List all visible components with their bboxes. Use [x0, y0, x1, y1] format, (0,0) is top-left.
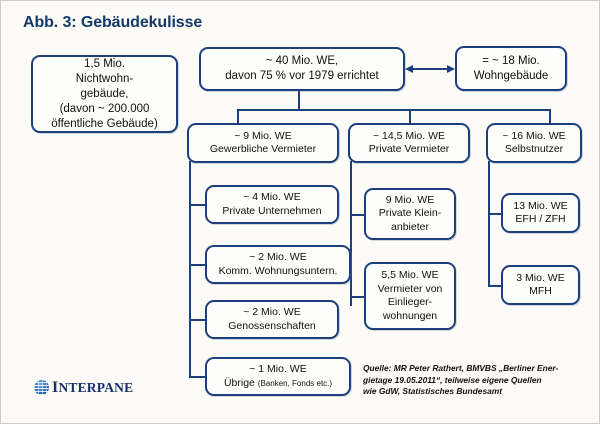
- source-note: Quelle: MR Peter Rathert, BMVBS „Berline…: [363, 363, 585, 398]
- box-cooperatives[interactable]: ~ 2 Mio. WE Genossenschaften: [205, 300, 339, 339]
- box-line: = ~ 18 Mio.: [482, 54, 540, 69]
- box-commercial-landlords[interactable]: ~ 9 Mio. WE Gewerbliche Vermieter: [187, 123, 339, 163]
- box-line: gebäude,: [81, 87, 129, 102]
- box-line-note: (Banken, Fonds etc.): [258, 379, 332, 388]
- box-private-companies[interactable]: ~ 4 Mio. WE Private Unternehmen: [205, 185, 339, 224]
- box-line: ~ 2 Mio. WE: [249, 251, 306, 265]
- source-line: gietage 19.05.2011“, teilweise eigene Qu…: [363, 375, 585, 387]
- box-line: ~ 16 Mio. WE: [502, 130, 565, 144]
- box-line: Einlieger-: [388, 296, 432, 310]
- box-line: ~ 40 Mio. WE,: [266, 54, 339, 69]
- box-granny-flat-landlords[interactable]: 5,5 Mio. WE Vermieter von Einlieger- woh…: [364, 262, 456, 330]
- logo-wordmark: INTERPANE: [52, 381, 133, 395]
- connector-stub-municipal: [189, 264, 205, 266]
- connector-drop-commercial: [237, 109, 239, 123]
- connector-stub-others: [189, 376, 205, 378]
- box-line: Wohngebäude: [474, 69, 549, 84]
- connector-spine-private: [350, 161, 352, 306]
- box-line: Nichtwohn-: [76, 72, 134, 87]
- box-line: 13 Mio. WE: [513, 200, 567, 214]
- connector-stub-efh: [488, 213, 501, 215]
- globe-icon: [34, 380, 49, 395]
- connector-spine-owner: [488, 161, 490, 286]
- box-residential-buildings[interactable]: = ~ 18 Mio. Wohngebäude: [455, 46, 567, 91]
- connector-stub-private-companies: [189, 204, 205, 206]
- box-line: 5,5 Mio. WE: [381, 269, 438, 283]
- connector-stub-cooperatives: [189, 319, 205, 321]
- box-line: MFH: [529, 285, 552, 299]
- box-line: (davon ~ 200.000: [60, 102, 150, 117]
- box-line: Private Unternehmen: [222, 205, 321, 219]
- box-owner-occupiers[interactable]: ~ 16 Mio. WE Selbstnutzer: [486, 123, 582, 163]
- connector-stub-mfh: [488, 285, 501, 287]
- box-line: 3 Mio. WE: [516, 272, 564, 286]
- box-line: EFH / ZFH: [515, 213, 565, 227]
- bidirectional-arrow-icon: [405, 62, 455, 76]
- box-efh-zfh[interactable]: 13 Mio. WE EFH / ZFH: [501, 193, 580, 233]
- connector-stub-einlieger: [350, 296, 364, 298]
- box-municipal-housing-companies[interactable]: ~ 2 Mio. WE Komm. Wohnungsuntern.: [205, 245, 351, 284]
- connector-drop-private: [409, 109, 411, 123]
- box-line: Komm. Wohnungsuntern.: [219, 265, 338, 279]
- box-dwellings-total[interactable]: ~ 40 Mio. WE, davon 75 % vor 1979 errich…: [199, 47, 405, 91]
- box-line: Übrige: [224, 377, 255, 389]
- box-line: öffentliche Gebäude): [51, 117, 158, 132]
- page-title: Abb. 3: Gebäudekulisse: [23, 14, 202, 32]
- box-line: Vermieter von: [378, 283, 443, 297]
- connector-stub-klein: [350, 214, 364, 216]
- figure-canvas: Abb. 3: Gebäudekulisse 1,5 Mio. Nichtwoh…: [0, 0, 600, 424]
- box-nonresidential-buildings[interactable]: 1,5 Mio. Nichtwohn- gebäude, (davon ~ 20…: [31, 55, 178, 133]
- box-line: Genossenschaften: [228, 320, 316, 334]
- box-others[interactable]: ~ 1 Mio. WE Übrige (Banken, Fonds etc.): [205, 357, 351, 396]
- connector-level2-bus: [237, 109, 551, 111]
- interpane-logo: INTERPANE: [34, 380, 133, 395]
- box-line: Gewerbliche Vermieter: [210, 143, 316, 157]
- box-line: ~ 1 Mio. WE: [249, 363, 306, 377]
- box-small-private-providers[interactable]: 9 Mio. WE Private Klein- anbieter: [364, 188, 456, 240]
- box-private-landlords[interactable]: ~ 14,5 Mio. WE Private Vermieter: [348, 123, 470, 163]
- source-line: wie GdW, Statistisches Bundesamt: [363, 386, 585, 398]
- box-line: wohnungen: [383, 310, 437, 324]
- box-line: davon 75 % vor 1979 errichtet: [225, 69, 378, 84]
- source-line: Quelle: MR Peter Rathert, BMVBS „Berline…: [363, 363, 585, 375]
- box-mfh[interactable]: 3 Mio. WE MFH: [501, 265, 580, 305]
- box-line: ~ 2 Mio. WE: [243, 306, 300, 320]
- box-line: 1,5 Mio.: [84, 57, 125, 72]
- box-line: ~ 4 Mio. WE: [243, 191, 300, 205]
- box-line: anbieter: [391, 221, 429, 235]
- box-line: 9 Mio. WE: [386, 194, 434, 208]
- connector-trunk-vertical: [298, 90, 300, 110]
- box-line: Selbstnutzer: [505, 143, 563, 157]
- connector-drop-owner: [549, 109, 551, 123]
- box-line: Private Klein-: [379, 207, 441, 221]
- box-line-group: Übrige (Banken, Fonds etc.): [224, 377, 332, 391]
- logo-rest: NTERPANE: [58, 380, 133, 395]
- box-line: ~ 14,5 Mio. WE: [373, 130, 445, 144]
- box-line: ~ 9 Mio. WE: [234, 130, 291, 144]
- connector-spine-commercial: [189, 161, 191, 376]
- box-line: Private Vermieter: [369, 143, 450, 157]
